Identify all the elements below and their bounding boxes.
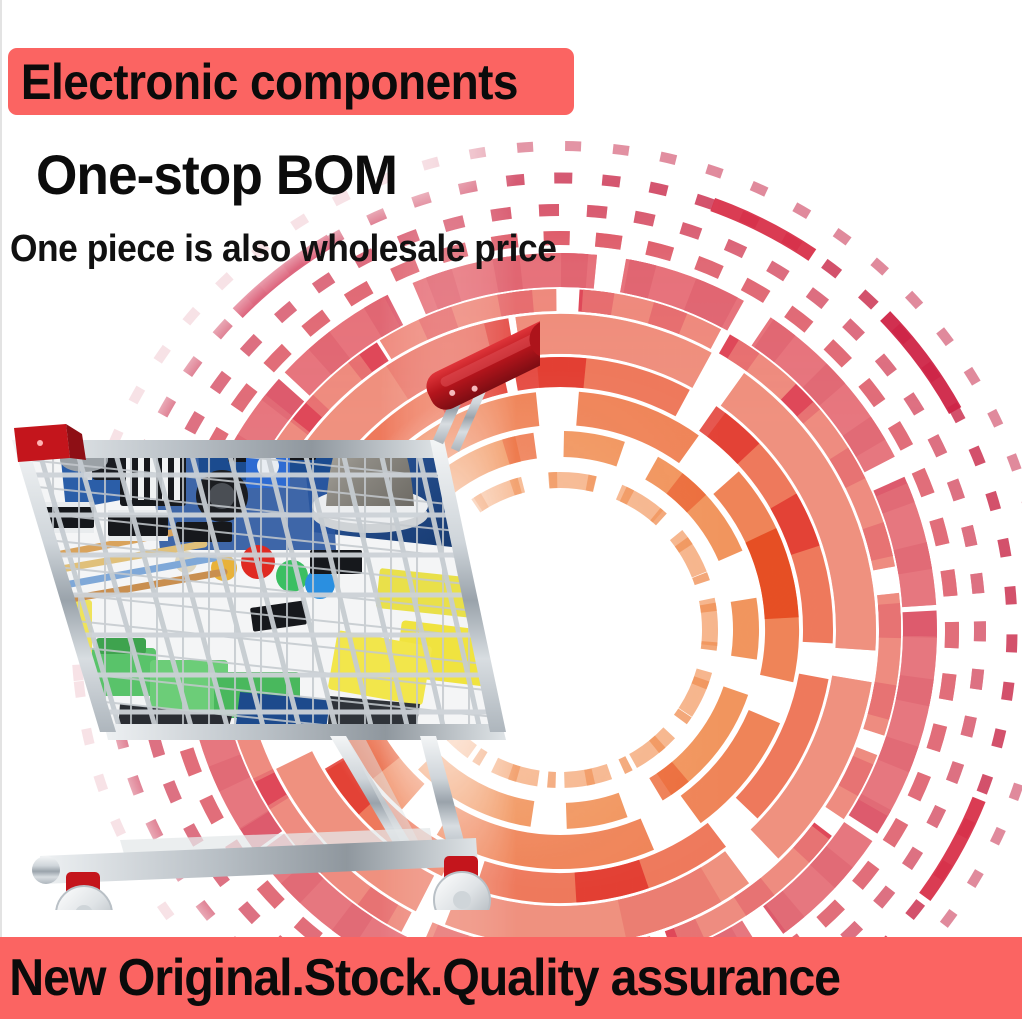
shopping-cart-illustration [0, 300, 540, 910]
footer-banner: New Original.Stock.Quality assurance [0, 937, 1022, 1019]
badge-electronic-components: Electronic components [8, 48, 574, 115]
cart-handle [421, 313, 540, 450]
cart-basket-mesh [0, 400, 540, 817]
promotional-poster: Electronic components One-stop BOM One p… [0, 0, 1022, 1019]
badge-label: Electronic components [8, 53, 531, 111]
subheadline: One piece is also wholesale price [10, 228, 556, 271]
headline: One-stop BOM [36, 142, 397, 207]
footer-tagline: New Original.Stock.Quality assurance [0, 948, 840, 1008]
cart-frame [32, 736, 490, 910]
